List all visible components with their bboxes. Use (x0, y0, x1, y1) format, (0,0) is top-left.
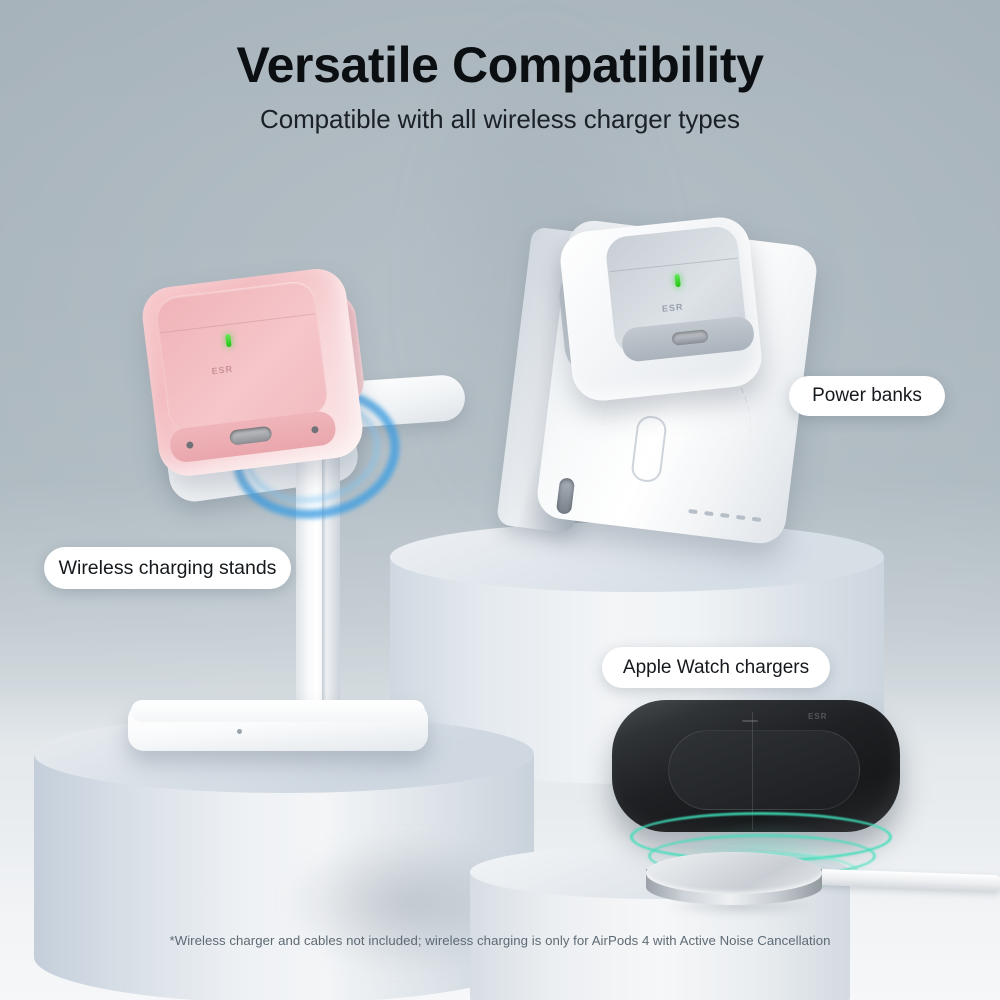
footnote-disclaimer: *Wireless charger and cables not include… (0, 933, 1000, 948)
airpods-case-grey: ESR (558, 215, 765, 404)
stand-base-top (131, 700, 425, 722)
battery-led (720, 513, 729, 518)
pedestal-left (34, 715, 534, 1000)
page-subtitle: Compatible with all wireless charger typ… (0, 104, 1000, 135)
callout-wireless-charging-stands: Wireless charging stands (44, 547, 291, 589)
mic-hole-icon (311, 426, 319, 434)
callout-power-banks: Power banks (789, 376, 945, 416)
mic-hole-icon (186, 441, 194, 449)
battery-led (688, 509, 697, 514)
battery-led (752, 517, 761, 522)
battery-led (736, 515, 745, 520)
pink-case-lid (154, 279, 329, 432)
esr-logo: ESR (808, 712, 827, 721)
callout-apple-watch-chargers: Apple Watch chargers (602, 647, 830, 688)
watch-puck-top (646, 852, 822, 894)
stand-base-indicator (237, 729, 242, 734)
page-title: Versatile Compatibility (0, 36, 1000, 94)
airpods-case-pink-group: ESR (126, 254, 403, 523)
black-case-hinge-mark (742, 720, 758, 722)
black-case-inner-panel (668, 730, 860, 810)
battery-led (704, 511, 713, 516)
product-infographic: ESR ESR (0, 0, 1000, 1000)
